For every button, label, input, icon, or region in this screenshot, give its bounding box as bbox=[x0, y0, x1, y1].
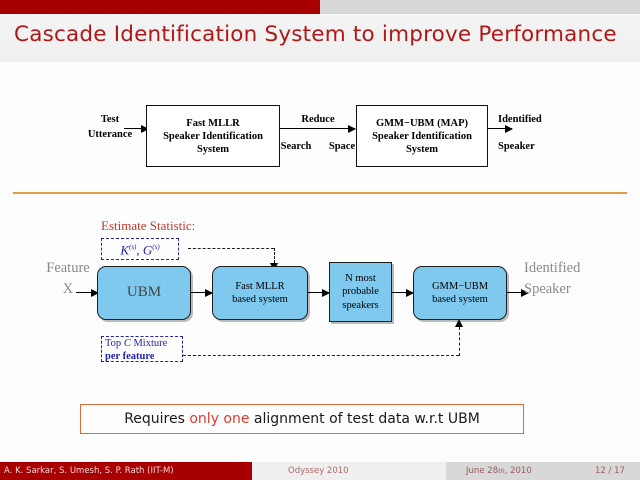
lower-box-n-most-probable-speakers: N most probable speakers bbox=[329, 262, 392, 322]
upper-box-fast-mllr: Fast MLLR Speaker Identification System bbox=[146, 105, 280, 167]
topc-second-line: per feature bbox=[105, 351, 179, 364]
arrow-fastmllr-to-gmmubm bbox=[280, 128, 355, 129]
slide-canvas: Cascade Identification System to improve… bbox=[0, 0, 640, 480]
arrow-fastmllr-to-nmost bbox=[307, 292, 329, 293]
footer-page-number: 12 / 17 bbox=[595, 462, 625, 480]
upper-box-gmm-ubm-map: GMM−UBM (MAP) Speaker Identification Sys… bbox=[356, 105, 488, 167]
page-title: Cascade Identification System to improve… bbox=[14, 22, 626, 56]
statistic-dashed-box: K(s), G(s) bbox=[101, 238, 179, 260]
stat-g-superscript: (s) bbox=[152, 243, 159, 251]
footer-date-suffix: , 2010 bbox=[505, 466, 532, 476]
lower-box-gmm-ubm: GMM−UBM based system bbox=[413, 266, 507, 320]
arrow-ubm-to-fastmllr bbox=[190, 292, 212, 293]
topc-c-symbol: C bbox=[124, 338, 131, 349]
callout-text-after: alignment of test data w.r.t UBM bbox=[249, 411, 479, 427]
footer-date-superscript: th bbox=[498, 467, 505, 475]
upper-input-label: Test Utterance bbox=[78, 112, 142, 142]
topc-suffix: Mixture bbox=[131, 338, 167, 349]
upper-mid-label-search: Search bbox=[274, 139, 318, 154]
upper-output-label: Identified Speaker bbox=[498, 112, 568, 154]
arrow-input-to-fastmllr bbox=[124, 128, 148, 129]
lower-output-label: Identified Speaker bbox=[524, 258, 630, 300]
arrow-feature-to-ubm bbox=[76, 292, 98, 293]
dashed-arrow-stat-to-fastmllr bbox=[274, 248, 275, 263]
callout-text-before: Requires bbox=[124, 411, 189, 427]
header-bar-accent bbox=[0, 0, 320, 14]
footer-authors: A. K. Sarkar, S. Umesh, S. P. Rath (IIT-… bbox=[4, 462, 174, 480]
footer-bar-middle bbox=[252, 462, 446, 480]
dashed-line-stat-horizontal bbox=[188, 248, 274, 249]
top-c-mixture-dashed-box: Top C Mixture per feature bbox=[101, 336, 183, 362]
footer-conference: Odyssey 2010 bbox=[288, 462, 349, 480]
dashed-line-topc-horizontal bbox=[183, 355, 459, 356]
horizontal-rule bbox=[13, 192, 627, 194]
dashed-arrow-topc-to-gmmubm bbox=[459, 327, 460, 356]
footer-date-prefix: June 28 bbox=[466, 466, 498, 476]
callout-highlight: only one bbox=[189, 411, 249, 427]
lower-box-ubm: UBM bbox=[97, 266, 191, 320]
stat-k-symbol: K bbox=[120, 242, 129, 257]
lower-box-fast-mllr: Fast MLLR based system bbox=[212, 266, 308, 320]
upper-mid-label-reduce: Reduce bbox=[278, 112, 358, 127]
callout-box: Requires only one alignment of test data… bbox=[80, 404, 524, 434]
stat-g-symbol: G bbox=[143, 242, 152, 257]
footer-date: June 28th, 2010 bbox=[466, 462, 532, 480]
topc-prefix: Top bbox=[105, 338, 124, 349]
estimate-statistic-label: Estimate Statistic: bbox=[101, 218, 195, 234]
arrow-nmost-to-gmmubm bbox=[391, 292, 413, 293]
